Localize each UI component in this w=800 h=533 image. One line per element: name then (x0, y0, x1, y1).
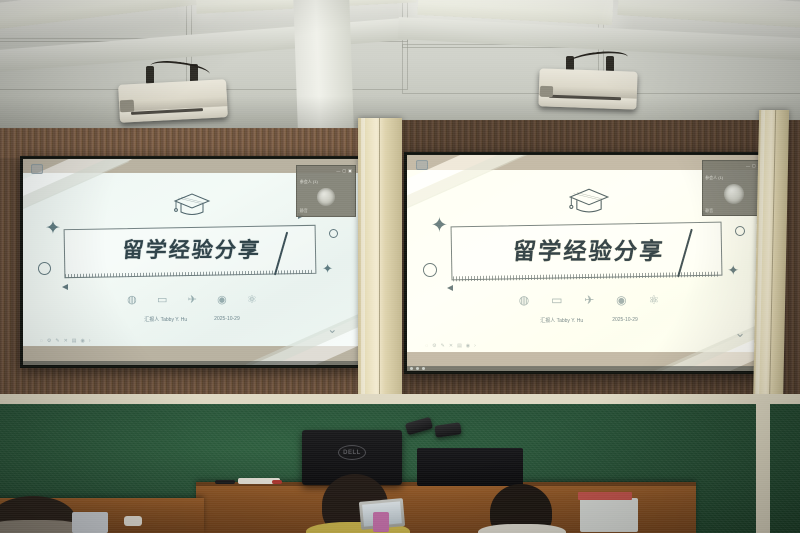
chalkboard-frame (756, 400, 770, 533)
presenter-meta: 汇报人 Tabby Y. Hu (540, 317, 583, 324)
participant-label: 参会人 (1) (705, 175, 723, 181)
conference-window-controls[interactable]: — ▢ ▣ (703, 163, 762, 168)
wood-slat-wall (0, 128, 400, 158)
slide-meta: 汇报人 Tabby Y. Hu 2025-10-29 (407, 317, 771, 324)
phone (373, 512, 389, 532)
gear-icon[interactable]: ⚙ (47, 338, 51, 344)
slide-toolbar[interactable]: ◌ ⚙ ✎ ✕ ▤ ◉ › (425, 343, 476, 349)
close-icon[interactable]: ✕ (449, 343, 453, 349)
pillar-right (753, 110, 789, 410)
pointer-icon[interactable]: ◌ (425, 343, 428, 349)
participant-label: 参会人 (1) (300, 179, 318, 185)
cup (124, 516, 142, 526)
keyboard (72, 512, 108, 533)
window-icon[interactable] (31, 164, 43, 174)
pen-icon[interactable]: ✎ (441, 343, 445, 349)
globe-doodle-icon: ◍ (127, 293, 137, 306)
circle-doodle-icon (735, 226, 745, 236)
conference-panel[interactable]: — ▢ ▣ 参会人 (1) 静音 (296, 165, 355, 216)
projection-screen-left[interactable]: 留学经验分享 ✦ ✦ ◍ ▭ ✈ ◉ ⚛ 汇 (20, 156, 364, 368)
lightbulb-doodle-icon: ◉ (217, 293, 227, 306)
presenter-meta: 汇报人 Tabby Y. Hu (144, 316, 187, 323)
doodle-icon-row: ◍ ▭ ✈ ◉ ⚛ (407, 293, 771, 307)
desk-item (272, 480, 282, 484)
date-meta: 2025-10-29 (214, 316, 240, 323)
conference-panel[interactable]: — ▢ ▣ 参会人 (1) 静音 (702, 160, 766, 216)
restore-icon[interactable]: ▢ (752, 163, 756, 168)
atom-doodle-icon: ⚛ (247, 293, 257, 306)
taskbar[interactable] (23, 361, 361, 365)
close-icon[interactable]: ▣ (348, 168, 352, 173)
triangle-doodle-icon (62, 284, 68, 290)
pointer-icon[interactable]: ◌ (40, 338, 43, 344)
minimize-icon[interactable]: — (746, 163, 750, 168)
date-meta: 2025-10-29 (612, 317, 638, 324)
airplane-doodle-icon: ✈ (188, 293, 197, 306)
pillar-center (358, 118, 402, 408)
camera-icon[interactable]: ◉ (466, 343, 470, 349)
slides-icon[interactable]: ▤ (72, 338, 77, 344)
circle-doodle-icon (329, 229, 338, 238)
conference-footer-label: 静音 (705, 208, 713, 214)
restore-icon[interactable]: ▢ (342, 168, 346, 173)
airplane-doodle-icon: ✈ (584, 293, 594, 307)
globe-doodle-icon: ◍ (519, 293, 529, 307)
book-doodle-icon: ▭ (551, 293, 562, 307)
atom-doodle-icon: ⚛ (648, 293, 659, 307)
slide-toolbar[interactable]: ◌ ⚙ ✎ ✕ ▤ ◉ › (40, 338, 91, 344)
chevron-down-icon[interactable]: ⌄ (735, 325, 746, 341)
gear-icon[interactable]: ⚙ (432, 343, 436, 349)
pen-icon[interactable]: ✎ (55, 338, 59, 344)
slide-meta: 汇报人 Tabby Y. Hu 2025-10-29 (23, 316, 361, 323)
red-book (578, 492, 632, 500)
camera-icon[interactable]: ◉ (81, 338, 85, 344)
close-icon[interactable]: ✕ (64, 338, 68, 344)
triangle-doodle-icon (447, 285, 453, 291)
window-icon[interactable] (416, 160, 428, 170)
chevron-down-icon[interactable]: ⌄ (327, 322, 337, 336)
sparkle-icon: ✦ (322, 262, 333, 275)
sparkle-icon: ✦ (45, 219, 61, 238)
taskbar[interactable] (407, 366, 771, 371)
circle-doodle-icon (38, 262, 51, 275)
sparkle-icon: ✦ (727, 263, 739, 277)
more-icon[interactable]: › (474, 343, 476, 349)
slide-title: 留学经验分享 (512, 232, 667, 266)
classroom-photo: 留学经验分享 ✦ ✦ ◍ ▭ ✈ ◉ ⚛ 汇 (0, 0, 800, 533)
doodle-icon-row: ◍ ▭ ✈ ◉ ⚛ (23, 293, 361, 306)
projection-screen-right[interactable]: 留学经验分享 ✦ ✦ ◍ ▭ ✈ ◉ ⚛ 汇报人 Tabby Y. Hu 20 (404, 152, 774, 374)
graduation-cap-icon (568, 187, 610, 223)
minimize-icon[interactable]: — (336, 168, 340, 173)
graduation-cap-icon (173, 192, 211, 225)
notebook-right (580, 498, 638, 532)
dell-logo: DELL (338, 445, 366, 460)
participant-avatar (317, 188, 335, 206)
desk-item (215, 480, 235, 484)
participant-avatar (724, 184, 744, 204)
book-doodle-icon: ▭ (157, 293, 167, 306)
conference-window-controls[interactable]: — ▢ ▣ (297, 168, 351, 173)
more-icon[interactable]: › (89, 338, 91, 344)
sparkle-icon: ✦ (431, 215, 449, 236)
lightbulb-doodle-icon: ◉ (616, 293, 626, 307)
slides-icon[interactable]: ▤ (457, 343, 462, 349)
circle-doodle-icon (423, 263, 437, 277)
slide-title: 留学经验分享 (121, 234, 262, 264)
secondary-monitor-rear (417, 448, 523, 486)
conference-footer-label: 静音 (300, 208, 308, 214)
